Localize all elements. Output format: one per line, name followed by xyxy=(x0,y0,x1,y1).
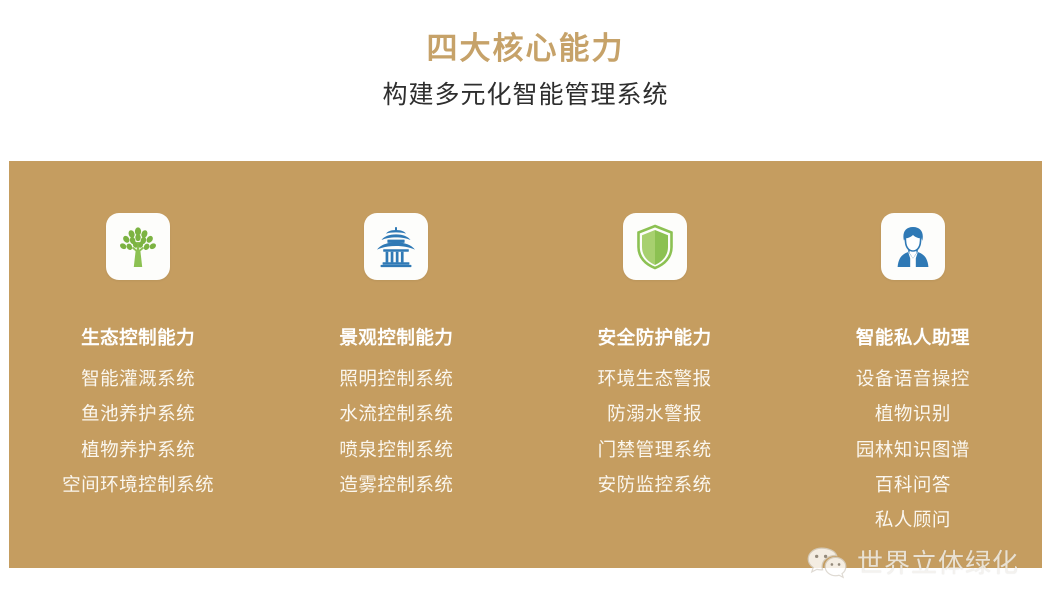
capability-item: 园林知识图谱 xyxy=(856,439,970,461)
capability-item-list: 智能灌溉系统 鱼池养护系统 植物养护系统 空间环境控制系统 xyxy=(62,349,214,496)
pavilion-icon xyxy=(375,225,417,269)
capability-item: 私人顾问 xyxy=(856,509,970,531)
capability-item: 喷泉控制系统 xyxy=(339,439,453,461)
page-subtitle: 构建多元化智能管理系统 xyxy=(0,79,1051,112)
capability-title: 安全防护能力 xyxy=(598,327,712,349)
capability-item-list: 设备语音操控 植物识别 园林知识图谱 百科问答 私人顾问 xyxy=(856,349,970,531)
capability-item: 造雾控制系统 xyxy=(339,474,453,496)
wechat-icon xyxy=(806,546,848,580)
pavilion-icon-tile xyxy=(364,213,428,280)
tree-icon-tile xyxy=(106,213,170,280)
person-assistant-icon-tile xyxy=(881,213,945,280)
capability-item: 设备语音操控 xyxy=(856,368,970,390)
capability-item: 门禁管理系统 xyxy=(598,439,712,461)
tree-icon xyxy=(117,225,159,269)
capability-column-landscape[interactable]: 景观控制能力 照明控制系统 水流控制系统 喷泉控制系统 造雾控制系统 xyxy=(267,213,525,496)
capability-item: 空间环境控制系统 xyxy=(62,474,214,496)
capability-item: 安防监控系统 xyxy=(598,474,712,496)
capability-item: 水流控制系统 xyxy=(339,403,453,425)
capability-title: 生态控制能力 xyxy=(81,327,195,349)
capability-item-list: 环境生态警报 防溺水警报 门禁管理系统 安防监控系统 xyxy=(598,349,712,496)
capability-item: 环境生态警报 xyxy=(598,368,712,390)
slide-canvas: 四大核心能力 构建多元化智能管理系统 xyxy=(0,0,1051,615)
capability-title: 景观控制能力 xyxy=(339,327,453,349)
capability-item: 照明控制系统 xyxy=(339,368,453,390)
capability-columns: 生态控制能力 智能灌溉系统 鱼池养护系统 植物养护系统 空间环境控制系统 xyxy=(9,161,1042,568)
capability-column-security[interactable]: 安全防护能力 环境生态警报 防溺水警报 门禁管理系统 安防监控系统 xyxy=(526,213,784,496)
capability-title: 智能私人助理 xyxy=(856,327,970,349)
person-assistant-icon xyxy=(893,225,933,269)
capability-item: 防溺水警报 xyxy=(598,403,712,425)
capability-item: 百科问答 xyxy=(856,474,970,496)
watermark-text: 世界立体绿化 xyxy=(857,550,1019,576)
capability-item-list: 照明控制系统 水流控制系统 喷泉控制系统 造雾控制系统 xyxy=(339,349,453,496)
capability-item: 植物养护系统 xyxy=(62,439,214,461)
shield-icon xyxy=(635,224,675,270)
header: 四大核心能力 构建多元化智能管理系统 xyxy=(0,0,1051,145)
capability-column-assistant[interactable]: 智能私人助理 设备语音操控 植物识别 园林知识图谱 百科问答 私人顾问 xyxy=(784,213,1042,531)
capability-column-ecology[interactable]: 生态控制能力 智能灌溉系统 鱼池养护系统 植物养护系统 空间环境控制系统 xyxy=(9,213,267,496)
capabilities-panel: 生态控制能力 智能灌溉系统 鱼池养护系统 植物养护系统 空间环境控制系统 xyxy=(9,161,1042,568)
shield-icon-tile xyxy=(623,213,687,280)
capability-item: 智能灌溉系统 xyxy=(62,368,214,390)
page-title: 四大核心能力 xyxy=(0,30,1051,67)
capability-item: 植物识别 xyxy=(856,403,970,425)
watermark: 世界立体绿化 xyxy=(806,546,1019,580)
capability-item: 鱼池养护系统 xyxy=(62,403,214,425)
